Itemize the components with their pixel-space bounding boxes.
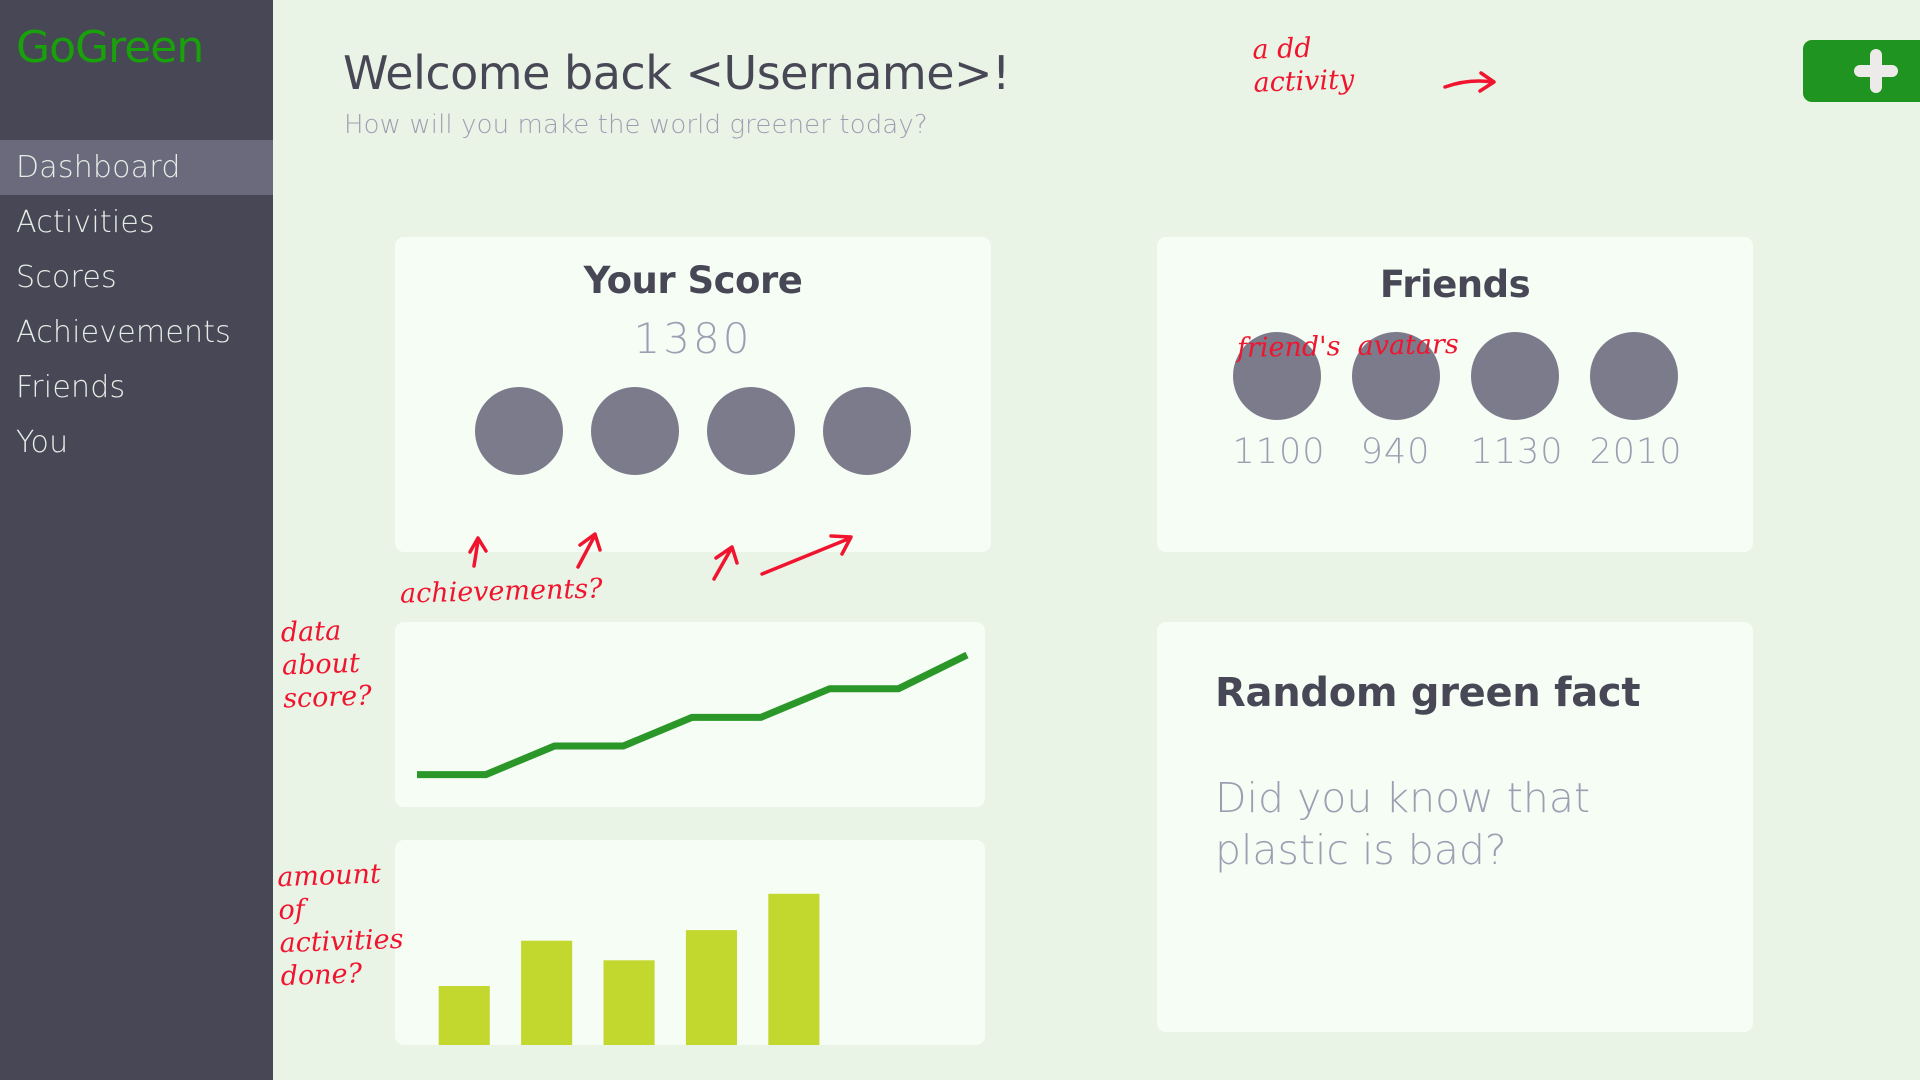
page-subtitle: How will you make the world greener toda… [344,110,928,140]
friend-score: 2010 [1590,432,1678,472]
add-activity-button[interactable] [1803,40,1920,102]
arrow-achieve-3 [714,549,731,579]
plus-icon [1854,49,1898,93]
random-fact-card: Random green fact Did you know that plas… [1157,622,1753,1032]
friend-avatar[interactable] [1352,332,1440,420]
sidebar: GoGreen Dashboard Activities Scores Achi… [0,0,273,1080]
friend-avatars: 1100 940 1130 2010 [1157,332,1753,472]
sidebar-item-dashboard[interactable]: Dashboard [0,140,273,195]
friend-entry[interactable]: 2010 [1590,332,1678,472]
achievement-avatar[interactable] [591,387,679,475]
sidebar-item-activities[interactable]: Activities [0,195,273,250]
page-title: Welcome back <Username>! [343,46,1010,100]
bar-column [768,894,819,1045]
score-line-chart[interactable] [395,622,985,807]
friends-card: Friends 1100 940 1130 2010 [1157,237,1753,552]
bar-column [521,941,572,1045]
friend-entry[interactable]: 1100 [1233,332,1321,472]
annotation-achievements: achievements? [400,573,603,611]
app-brand-logo-text: GoGreen [16,22,203,73]
friend-score: 1100 [1233,432,1321,472]
activities-bar-chart[interactable] [395,840,985,1045]
friends-card-title: Friends [1157,263,1753,306]
annotation-activity-amount: amount of activities done? [277,858,405,994]
score-card-title: Your Score [395,259,991,302]
line-series-path [417,655,967,775]
friend-avatar[interactable] [1471,332,1559,420]
sidebar-item-label: Dashboard [16,150,181,185]
random-fact-body: Did you know that plastic is bad? [1215,772,1685,877]
achievement-avatar[interactable] [707,387,795,475]
score-achievement-avatars [395,387,991,475]
bar-column [686,930,737,1045]
bar-column [439,986,490,1045]
sidebar-item-label: You [16,425,68,460]
friend-entry[interactable]: 940 [1352,332,1440,472]
sidebar-item-label: Achievements [16,315,231,350]
score-line-chart-svg [395,622,985,807]
sidebar-item-you[interactable]: You [0,415,273,470]
sidebar-item-friends[interactable]: Friends [0,360,273,415]
friend-avatar[interactable] [1590,332,1678,420]
sidebar-item-label: Scores [16,260,117,295]
score-card: Your Score 1380 [395,237,991,552]
activities-bar-chart-svg [395,840,985,1045]
friend-entry[interactable]: 1130 [1471,332,1559,472]
page-header: Welcome back <Username>! How will you ma… [273,0,1920,170]
friend-score: 940 [1352,432,1440,472]
achievement-avatar[interactable] [475,387,563,475]
sidebar-item-label: Activities [16,205,155,240]
friend-avatar[interactable] [1233,332,1321,420]
random-fact-title: Random green fact [1215,670,1753,716]
sidebar-item-achievements[interactable]: Achievements [0,305,273,360]
bar-column [604,960,655,1045]
sidebar-nav: Dashboard Activities Scores Achievements… [0,140,273,470]
sidebar-item-label: Friends [16,370,125,405]
annotation-score-data: data about score? [280,614,372,716]
achievement-avatar[interactable] [823,387,911,475]
score-value: 1380 [395,314,991,363]
sidebar-item-scores[interactable]: Scores [0,250,273,305]
friend-score: 1130 [1471,432,1559,472]
